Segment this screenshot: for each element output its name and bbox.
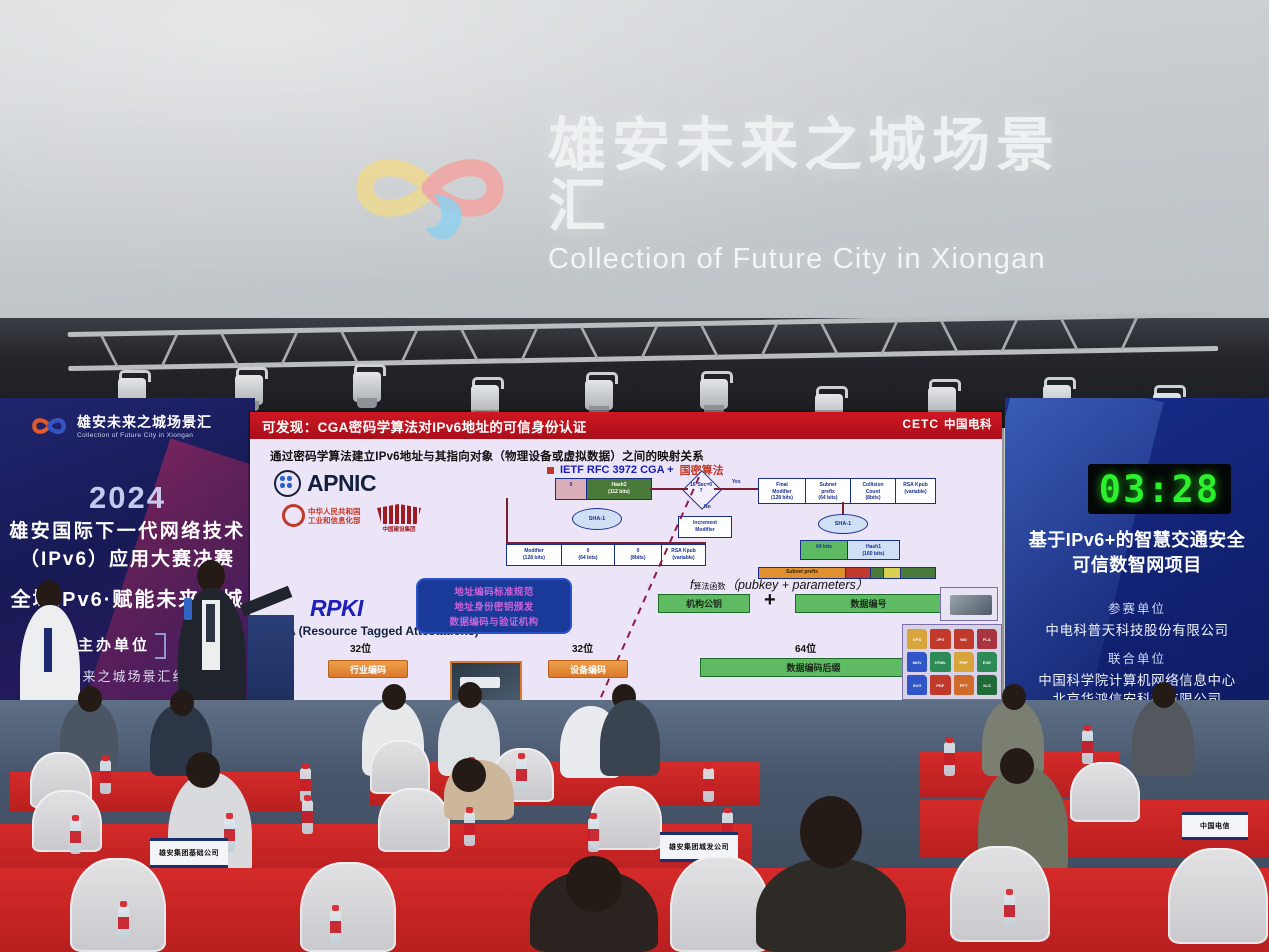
encoding-formula: f算法函数（pubkey + parameters） bbox=[690, 574, 868, 593]
iid-seg-green bbox=[871, 568, 884, 578]
stage-light-icon bbox=[350, 364, 384, 410]
table-name-plate: 雄安集团基础公司 bbox=[150, 838, 228, 868]
audience-head bbox=[458, 682, 482, 708]
capability-item-1: 地址编码标准规范 bbox=[454, 584, 533, 598]
conference-hall-scene: 雄安未来之城场景汇 Collection of Future City in X… bbox=[0, 0, 1269, 952]
microphone-icon bbox=[184, 598, 192, 620]
hash1-cell: Hash1 (160 bits) bbox=[848, 541, 899, 559]
file-icon-mov: MOV bbox=[907, 652, 927, 672]
apnic-wordmark: APNIC bbox=[307, 470, 376, 497]
countdown-clock-value: 03:28 bbox=[1099, 468, 1220, 511]
file-icon-fla: FLA bbox=[977, 629, 997, 649]
audience-chair bbox=[32, 790, 102, 852]
audience-chair bbox=[300, 862, 396, 952]
audience-head bbox=[800, 796, 862, 868]
file-icon-xls: XLS bbox=[977, 675, 997, 695]
audience-head bbox=[452, 758, 486, 792]
cetc-logo: CETC 中国电科 bbox=[902, 416, 992, 432]
flow-connector bbox=[506, 542, 706, 544]
partner-label: 联合单位 bbox=[1005, 648, 1269, 667]
right-cell-rsakpub: RSA Kpub (variable) bbox=[896, 479, 935, 503]
audience-head bbox=[186, 752, 220, 788]
cetc-logo-en: CETC bbox=[902, 417, 939, 431]
project-title-line2: 可信数智网项目 bbox=[1005, 551, 1269, 577]
gear-icon bbox=[282, 504, 305, 527]
audience-chair bbox=[378, 788, 450, 852]
formula-cn: 算法函数 bbox=[693, 582, 725, 591]
file-icon-php: PHP bbox=[954, 652, 974, 672]
water-bottle bbox=[703, 768, 714, 802]
right-cell-subnet-prefix: Subnet prefix (64 bits) bbox=[806, 479, 851, 503]
entrant-value: 中电科普天科技股份有限公司 bbox=[1005, 619, 1269, 639]
flow-connector bbox=[842, 502, 844, 514]
green-box-data-number: 数据编号 bbox=[795, 594, 942, 613]
file-icon-wd: WD bbox=[954, 629, 974, 649]
apnic-logo: APNIC bbox=[274, 470, 376, 497]
bits-label-right: 64位 bbox=[795, 640, 816, 655]
green-box-data-suffix: 数据编码后缀 bbox=[700, 658, 927, 677]
decision-yes-label: Yes bbox=[732, 479, 741, 485]
left-banner-title-line1: 雄安国际下一代网络技术 bbox=[0, 516, 255, 543]
flow-connector bbox=[714, 488, 758, 490]
audience-head bbox=[1002, 684, 1026, 710]
name-plate-label: 雄安集团基础公司 bbox=[159, 848, 219, 858]
orange-box-device-code: 设备编码 bbox=[548, 660, 628, 678]
audience-head bbox=[382, 684, 406, 710]
bottom-cell-zero8: 0 (8bits) bbox=[615, 545, 662, 565]
file-icon-exe: EXE bbox=[977, 652, 997, 672]
iid-seg-green2 bbox=[901, 568, 935, 578]
rpki-logo: RPKI bbox=[310, 595, 363, 622]
miit-line1: 中华人民共和国 bbox=[308, 507, 361, 516]
venue-hero-logo: 雄安未来之城场景汇 Collection of Future City in X… bbox=[330, 126, 1120, 266]
bottom-cell-zero64: 0 (64 bits) bbox=[562, 545, 615, 565]
audience-chair bbox=[1070, 762, 1140, 822]
file-icon-jpg: JPG bbox=[930, 629, 950, 649]
file-icon-pdf: PDF bbox=[930, 675, 950, 695]
water-bottle bbox=[70, 820, 81, 854]
iid-seg-yellow bbox=[884, 568, 901, 578]
file-type-icon-grid: EPS JPG WD FLA MOV HTML PHP EXE SVG PDF … bbox=[902, 624, 1002, 700]
miit-line2: 工业和信息化部 bbox=[308, 516, 361, 525]
hash1-64bits-cell: 64 bits bbox=[801, 541, 848, 559]
file-icon-html: HTML bbox=[930, 652, 950, 672]
capability-item-3: 数据编码与验证机构 bbox=[449, 614, 538, 628]
water-bottle bbox=[588, 818, 599, 852]
audience-head bbox=[566, 856, 622, 912]
audience-head bbox=[78, 686, 102, 712]
capability-box: 地址编码标准规范 地址身份密钥颁发 数据编码与验证机构 bbox=[416, 578, 572, 634]
sha1-left-ellipse: SHA-1 bbox=[572, 508, 622, 530]
audience-chair bbox=[670, 856, 770, 952]
left-banner-logo-en: Collection of Future City in Xiongan bbox=[77, 432, 212, 439]
countdown-clock: 03:28 bbox=[1088, 464, 1231, 514]
cetc-logo-cn: 中国电科 bbox=[944, 416, 992, 432]
water-bottle bbox=[118, 906, 129, 940]
apnic-dots-icon bbox=[274, 470, 301, 497]
left-banner-year: 2024 bbox=[0, 480, 255, 516]
left-banner-logo-cn: 雄安未来之城场景汇 bbox=[77, 412, 212, 432]
table-name-plate: 中国电信 bbox=[1182, 812, 1248, 840]
audience-chair bbox=[1168, 848, 1268, 944]
orange-box-industry-code: 行业编码 bbox=[328, 660, 408, 678]
audience-chair bbox=[950, 846, 1050, 942]
right-cell-collision-count: Collision Count (8bits) bbox=[851, 479, 896, 503]
capability-item-2: 地址身份密钥颁发 bbox=[454, 599, 533, 613]
water-bottle bbox=[516, 758, 527, 792]
flow-connector bbox=[506, 498, 508, 544]
cga-bottom-row: Modifier (128 bits) 0 (64 bits) 0 (8bits… bbox=[506, 544, 706, 566]
venue-hero-title-en: Collection of Future City in Xiongan bbox=[548, 243, 1120, 276]
project-title-line1: 基于IPv6+的智慧交通安全 bbox=[1005, 526, 1269, 552]
water-bottle bbox=[330, 910, 341, 944]
infinity-bird-logo-icon bbox=[330, 136, 530, 256]
file-icon-eps: EPS bbox=[907, 629, 927, 649]
audience-head bbox=[1000, 748, 1034, 784]
cec-logo: 中国建设集团 bbox=[377, 504, 421, 533]
audience-head bbox=[1152, 682, 1176, 708]
slide-title-bar: 可发现：CGA密码学算法对IPv6地址的可信身份认证 CETC 中国电科 bbox=[250, 412, 1002, 439]
bits-label-left: 32位 bbox=[350, 640, 371, 655]
miit-logo: 中华人民共和国 工业和信息化部 bbox=[282, 504, 361, 527]
cga-right-row: Final Modifier (128 bits) Subnet prefix … bbox=[758, 478, 936, 504]
water-bottle bbox=[100, 760, 111, 794]
name-plate-label: 雄安集团城发公司 bbox=[669, 842, 729, 852]
water-bottle bbox=[1004, 894, 1015, 928]
water-bottle bbox=[302, 800, 313, 834]
file-icon-svg: SVG bbox=[907, 675, 927, 695]
stage-light-icon bbox=[697, 371, 731, 417]
audience-chair bbox=[370, 740, 430, 794]
bits-label-mid: 32位 bbox=[572, 640, 593, 655]
formula-args: （pubkey + parameters） bbox=[725, 578, 868, 592]
hash2-zero-cell: 0 bbox=[556, 479, 587, 499]
presentation-screen: 可发现：CGA密码学算法对IPv6地址的可信身份认证 CETC 中国电科 通过密… bbox=[250, 412, 1002, 728]
hash2-bar: 0 Hash2 (112 bits) bbox=[555, 478, 652, 500]
right-cell-final-modifier: Final Modifier (128 bits) bbox=[759, 479, 806, 503]
water-bottle bbox=[1082, 730, 1093, 764]
venue-hero-title-cn: 雄安未来之城场景汇 bbox=[548, 116, 1120, 238]
slide-title: 可发现：CGA密码学算法对IPv6地址的可信身份认证 bbox=[262, 416, 587, 436]
partner-value-line1: 中国科学院计算机网络信息中心 bbox=[1005, 669, 1269, 689]
water-bottle bbox=[944, 742, 955, 776]
file-icon-ppt: PPT bbox=[954, 675, 974, 695]
left-banner-logo: 雄安未来之城场景汇 Collection of Future City in X… bbox=[28, 412, 212, 439]
audience-chair bbox=[590, 786, 662, 850]
sha1-right-ellipse: SHA-1 bbox=[818, 514, 868, 534]
plus-sign: + bbox=[764, 589, 776, 612]
chip-photo bbox=[940, 587, 998, 621]
increment-modifier-box: Increment Modifier bbox=[678, 516, 732, 538]
decision-no-label: No bbox=[704, 504, 711, 510]
water-bottle bbox=[464, 812, 475, 846]
bottom-cell-modifier: Modifier (128 bits) bbox=[507, 545, 562, 565]
fan-icon bbox=[377, 504, 421, 524]
cga-flow-diagram: 0 Hash2 (112 bits) SHA-1 16*Sec=0 ? Yes … bbox=[500, 472, 1000, 564]
green-box-org-pubkey: 机构公钥 bbox=[658, 594, 750, 613]
name-plate-label: 中国电信 bbox=[1200, 821, 1230, 831]
flow-connector bbox=[650, 488, 688, 490]
entrant-label: 参赛单位 bbox=[1005, 598, 1269, 617]
cec-logo-label: 中国建设集团 bbox=[377, 525, 421, 533]
audience-head bbox=[170, 690, 194, 716]
hash2-cell: Hash2 (112 bits) bbox=[587, 479, 651, 499]
infinity-bird-logo-icon bbox=[28, 413, 70, 439]
hash1-bar: 64 bits Hash1 (160 bits) bbox=[800, 540, 900, 560]
